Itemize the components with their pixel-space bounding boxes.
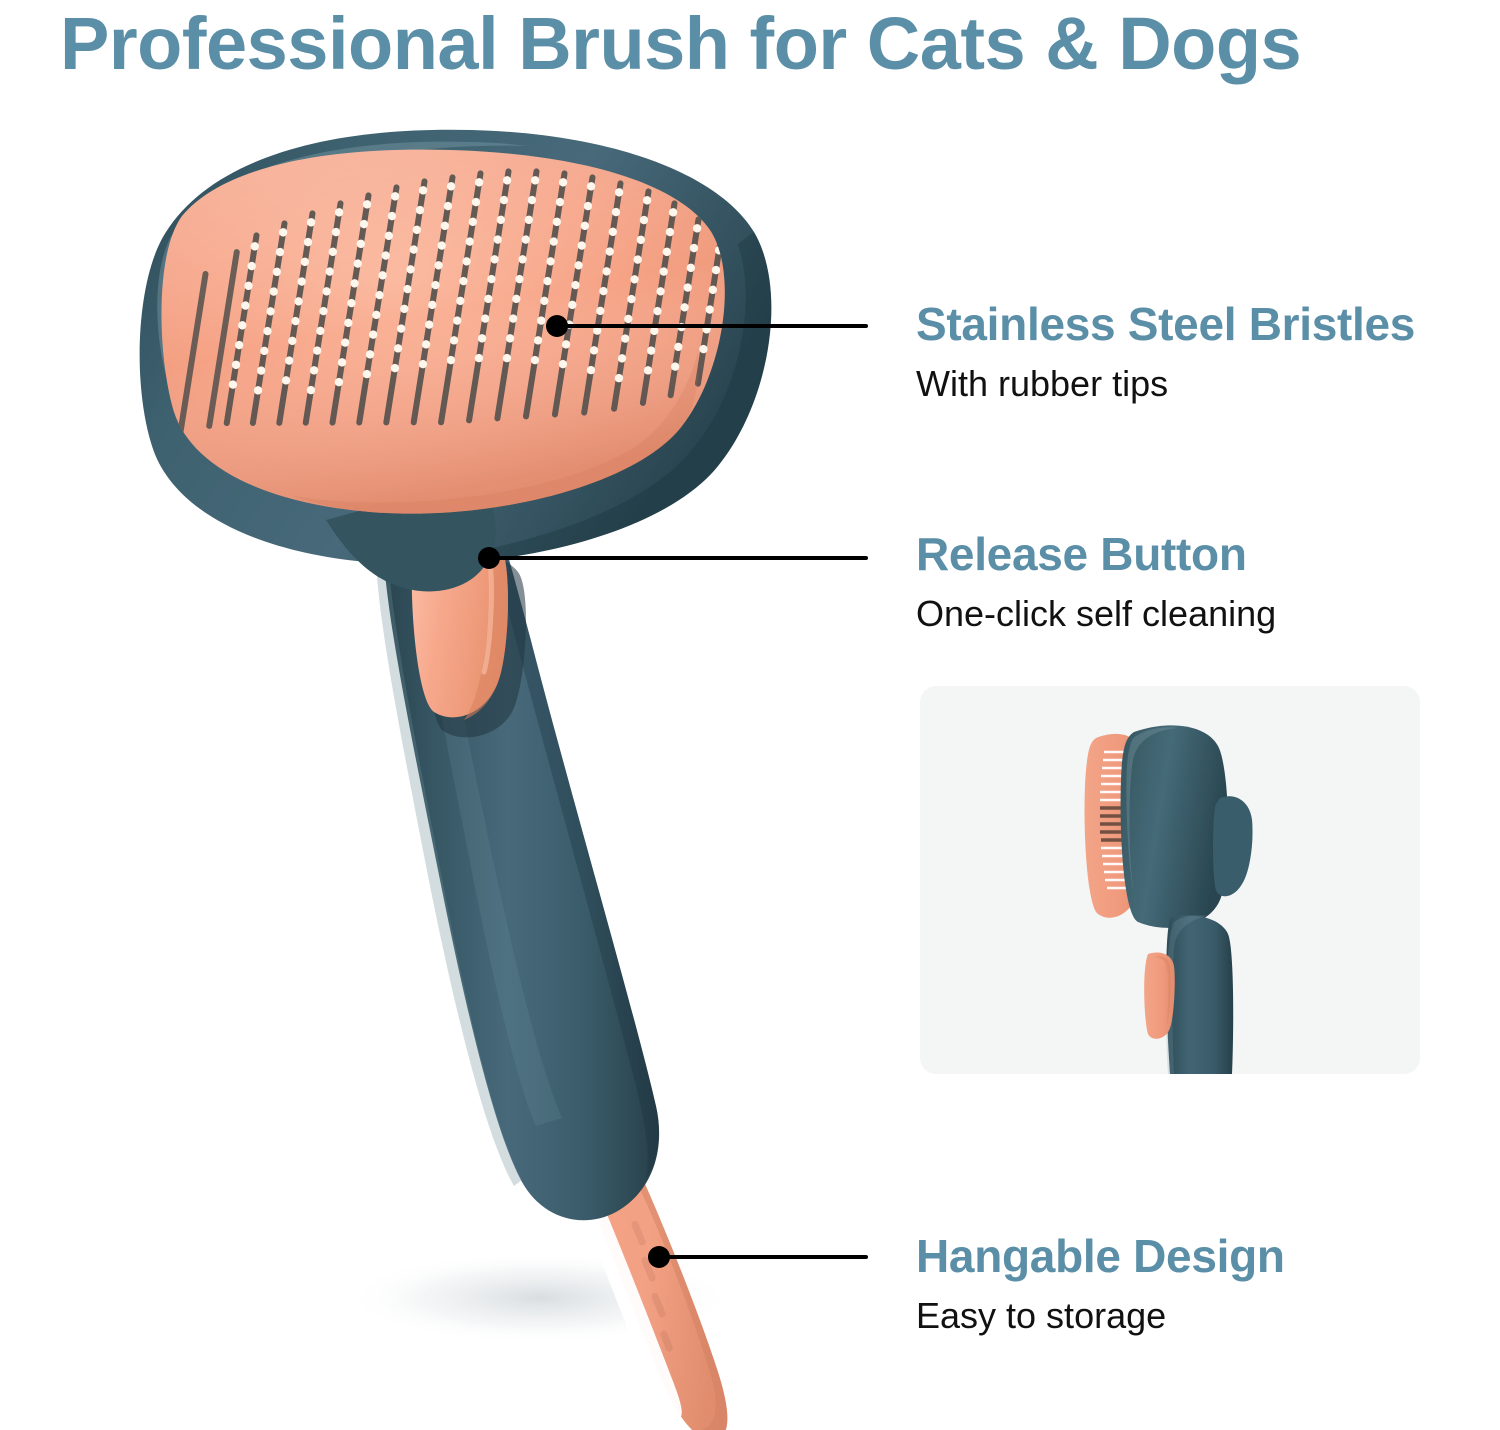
leader-dot-bristles bbox=[546, 315, 568, 337]
callout-subtitle: Easy to storage bbox=[916, 1296, 1285, 1336]
leader-dot-release bbox=[478, 547, 500, 569]
callout-release-button: Release Button One-click self cleaning bbox=[916, 530, 1276, 634]
callout-stainless-steel-bristles: Stainless Steel Bristles With rubber tip… bbox=[916, 300, 1415, 404]
leader-dot-hangable bbox=[648, 1246, 670, 1268]
leader-line-release bbox=[492, 556, 868, 560]
callout-title: Hangable Design bbox=[916, 1232, 1285, 1280]
callout-subtitle: With rubber tips bbox=[916, 364, 1415, 404]
inset-handle bbox=[1166, 915, 1233, 1074]
callout-title: Release Button bbox=[916, 530, 1276, 578]
page-title: Professional Brush for Cats & Dogs bbox=[60, 4, 1480, 84]
callout-title: Stainless Steel Bristles bbox=[916, 300, 1415, 348]
leader-line-hangable bbox=[662, 1255, 868, 1259]
product-illustration bbox=[70, 120, 910, 1430]
inset-head-shoulder bbox=[1213, 796, 1253, 896]
callout-hangable-design: Hangable Design Easy to storage bbox=[916, 1232, 1285, 1336]
leader-line-bristles bbox=[560, 324, 868, 328]
inset-brush-head bbox=[1121, 725, 1229, 928]
inset-side-view-illustration bbox=[920, 686, 1420, 1074]
callout-subtitle: One-click self cleaning bbox=[916, 594, 1276, 634]
inset-release-button bbox=[1144, 953, 1175, 1039]
inset-photo-panel bbox=[920, 686, 1420, 1074]
